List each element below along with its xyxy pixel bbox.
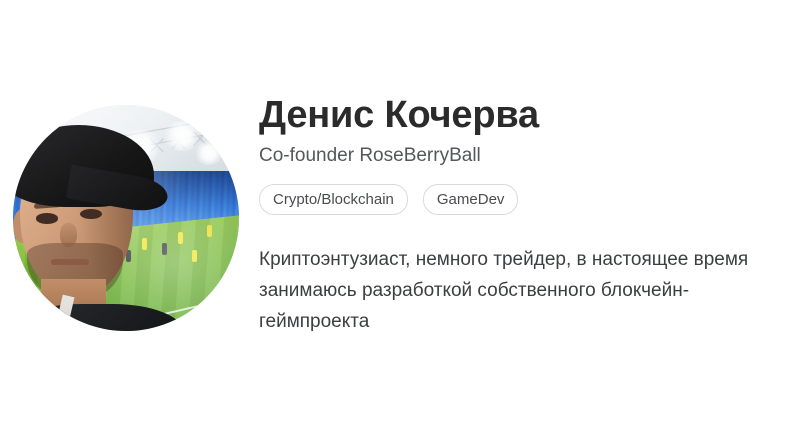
avatar-photo: [13, 105, 239, 331]
avatar[interactable]: [13, 105, 239, 331]
tag-gamedev[interactable]: GameDev: [423, 184, 519, 215]
profile-subtitle: Co-founder RoseBerryBall: [259, 144, 769, 168]
eye-shape: [36, 213, 58, 223]
profile-info: Денис Кочерва Co-founder RoseBerryBall C…: [259, 92, 769, 337]
mouth-shape: [51, 259, 89, 265]
profile-card: Денис Кочерва Co-founder RoseBerryBall C…: [0, 0, 800, 443]
profile-bio: Криптоэнтузиаст, немного трейдер, в наст…: [259, 244, 751, 337]
person-portrait: [13, 119, 171, 331]
tag-crypto-blockchain[interactable]: Crypto/Blockchain: [259, 184, 408, 215]
tag-list: Crypto/Blockchain GameDev: [259, 184, 769, 215]
page-title: Денис Кочерва: [259, 92, 769, 138]
nose-shape: [60, 223, 77, 248]
